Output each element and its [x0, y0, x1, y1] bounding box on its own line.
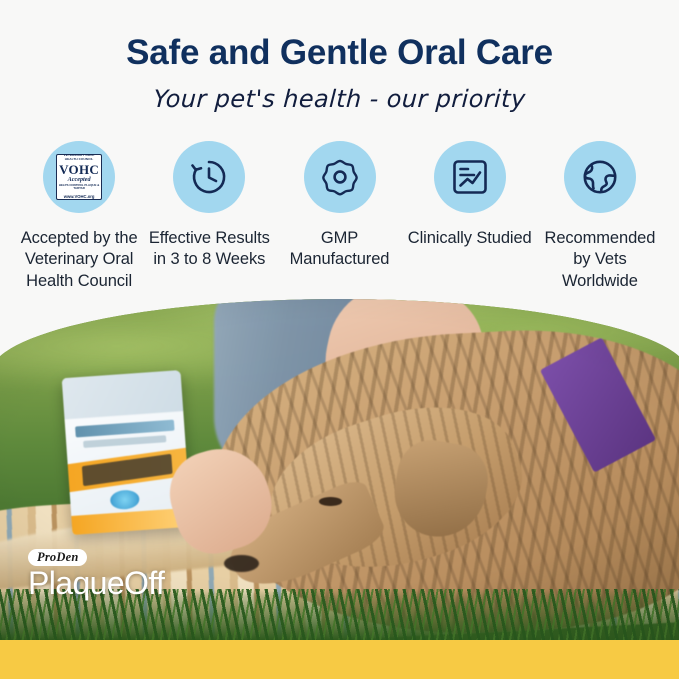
feature-item-gmp: GMP Manufactured	[274, 141, 404, 272]
photo-dog-nose	[224, 555, 259, 572]
photo-bag-dot	[110, 489, 140, 510]
page-title: Safe and Gentle Oral Care	[0, 34, 679, 73]
vohc-accepted-text: Accepted	[68, 177, 91, 183]
vohc-url-text: www.VOHC.org	[64, 194, 95, 199]
feature-label: Clinically Studied	[408, 228, 532, 250]
photo-bag-subtitle	[83, 436, 166, 448]
feature-item-recommended-worldwide: Recommended by Vets Worldwide	[535, 141, 665, 294]
feature-label: Recommended by Vets Worldwide	[535, 228, 665, 294]
feature-item-clinically-studied: Clinically Studied	[405, 141, 535, 250]
photo-bag-brand	[74, 419, 174, 437]
feature-label: Accepted by the Veterinary Oral Health C…	[14, 228, 144, 294]
feature-item-effective-results: Effective Results in 3 to 8 Weeks	[144, 141, 274, 272]
vohc-top-line: VETERINARY ORAL HEALTH COUNCIL	[58, 154, 100, 162]
page-subtitle: Your pet's health - our priority	[0, 85, 679, 113]
photo-bag-top	[62, 370, 183, 420]
vohc-main-text: VOHC	[59, 163, 99, 176]
globe-icon	[564, 141, 636, 213]
bottom-accent-bar	[0, 640, 679, 679]
clock-history-icon	[173, 141, 245, 213]
gear-icon	[304, 141, 376, 213]
feature-item-vohc: VETERINARY ORAL HEALTH COUNCIL VOHC Acce…	[14, 141, 144, 294]
chart-square-icon	[434, 141, 506, 213]
photo-dog-eye	[319, 497, 343, 506]
vohc-seal-badge: VETERINARY ORAL HEALTH COUNCIL VOHC Acce…	[56, 154, 102, 200]
feature-list: VETERINARY ORAL HEALTH COUNCIL VOHC Acce…	[0, 141, 679, 294]
vohc-sub-line: HELPS CONTROL PLAQUE & TARTAR	[58, 184, 100, 191]
logo-plaqueoff-text: PlaqueOff	[28, 567, 164, 601]
vohc-seal-icon: VETERINARY ORAL HEALTH COUNCIL VOHC Acce…	[43, 141, 115, 213]
header: Safe and Gentle Oral Care Your pet's hea…	[0, 0, 679, 113]
feature-label: GMP Manufactured	[274, 228, 404, 272]
photo-product-bag	[62, 370, 191, 535]
logo-proden-badge: ProDen	[28, 549, 87, 566]
brand-logo: ProDen PlaqueOff	[28, 548, 164, 601]
feature-label: Effective Results in 3 to 8 Weeks	[144, 228, 274, 272]
product-feature-panel: Safe and Gentle Oral Care Your pet's hea…	[0, 0, 679, 679]
